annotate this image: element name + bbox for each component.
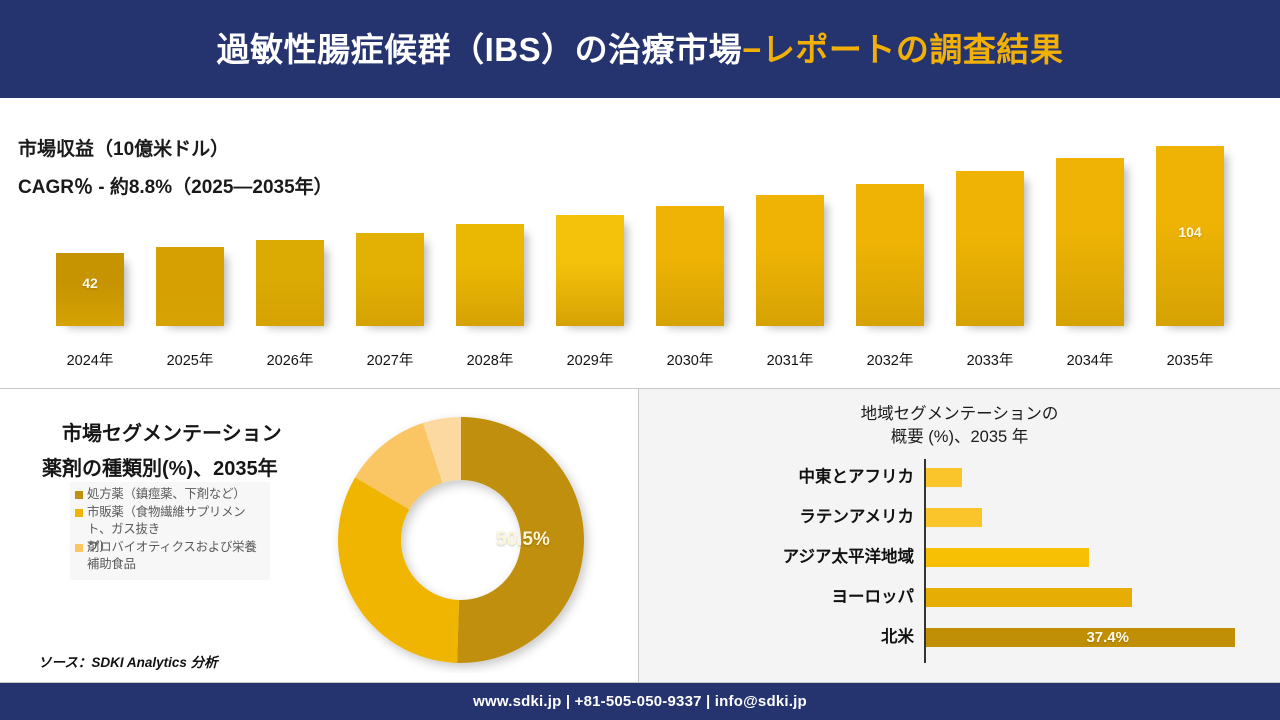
bar-2025年 bbox=[156, 247, 224, 326]
page-title: 過敏性腸症候群（IBS）の治療市場−レポートの調査結果 bbox=[217, 33, 1064, 66]
bar-category-label: 2029年 bbox=[545, 349, 635, 370]
donut-legend: 処方薬（鎮痙薬、下剤など） 市販薬（食物繊維サプリメント、ガス抜き プロバイオテ… bbox=[70, 482, 270, 580]
legend-label: 市販薬（食物繊維サプリメント、ガス抜き bbox=[87, 504, 265, 539]
legend-item: 処方薬（鎮痙薬、下剤など） bbox=[75, 486, 265, 504]
region-bar-4 bbox=[926, 628, 1235, 647]
legend-item: プロバイオティクスおよび栄養補助食品 bbox=[75, 539, 265, 574]
region-label-3: ヨーロッパ bbox=[639, 586, 914, 608]
bar-2033年 bbox=[956, 171, 1024, 326]
legend-swatch-icon bbox=[75, 491, 83, 499]
region-label-0: 中東とアフリカ bbox=[639, 466, 914, 488]
region-title-line1: 地域セグメンテーションの bbox=[861, 405, 1059, 423]
region-bar-3 bbox=[926, 588, 1132, 607]
bar-category-label: 2024年 bbox=[45, 349, 135, 370]
segmentation-title-line1: 市場セグメンテーション bbox=[62, 417, 362, 446]
market-revenue-section: 市場収益（10億米ドル） CAGR％ - 約8.8%（2025―2035年） 4… bbox=[0, 98, 1280, 386]
bar-2027年 bbox=[356, 233, 424, 326]
region-bar-plot-area: 中東とアフリカラテンアメリカアジア太平洋地域ヨーロッパ北米37.4% bbox=[639, 459, 1280, 667]
region-bar-0 bbox=[926, 468, 962, 487]
donut-svg bbox=[330, 411, 600, 673]
bar-2028年 bbox=[456, 224, 524, 326]
page-title-main: 過敏性腸症候群（IBS）の治療市場 bbox=[217, 31, 743, 68]
bar-category-label: 2032年 bbox=[845, 349, 935, 370]
donut-data-label: 50.5% bbox=[496, 529, 550, 551]
bar-category-label: 2026年 bbox=[245, 349, 335, 370]
legend-label: 処方薬（鎮痙薬、下剤など） bbox=[87, 486, 265, 504]
bar-2026年 bbox=[256, 240, 324, 326]
drug-type-donut-chart: 50.5% bbox=[330, 411, 600, 673]
bar-category-label: 2033年 bbox=[945, 349, 1035, 370]
footer-banner: www.sdki.jp | +81-505-050-9337 | info@sd… bbox=[0, 683, 1280, 720]
bar-category-label: 2025年 bbox=[145, 349, 235, 370]
bar-value-label: 104 bbox=[1156, 224, 1224, 240]
region-bar-1 bbox=[926, 508, 982, 527]
bar-2034年 bbox=[1056, 158, 1124, 326]
region-chart-title: 地域セグメンテーションの 概要 (%)、2035 年 bbox=[639, 403, 1280, 449]
region-bar-2 bbox=[926, 548, 1089, 567]
region-row: 北米37.4% bbox=[639, 625, 1280, 665]
region-label-2: アジア太平洋地域 bbox=[639, 546, 914, 568]
page-title-accent: −レポートの調査結果 bbox=[742, 31, 1063, 68]
legend-swatch-icon bbox=[75, 544, 83, 552]
region-row: 中東とアフリカ bbox=[639, 465, 1280, 505]
footer-contact: www.sdki.jp | +81-505-050-9337 | info@sd… bbox=[473, 693, 807, 710]
region-value-label: 37.4% bbox=[1086, 629, 1129, 646]
bar-value-label: 42 bbox=[56, 275, 124, 291]
region-row: ヨーロッパ bbox=[639, 585, 1280, 625]
bar-2029年 bbox=[556, 215, 624, 326]
region-label-4: 北米 bbox=[639, 626, 914, 648]
drug-type-segmentation-panel: 市場セグメンテーション 薬剤の種類別(%)、2035年 処方薬（鎮痙薬、下剤など… bbox=[0, 389, 638, 682]
legend-swatch-icon bbox=[75, 509, 83, 517]
bar-category-label: 2035年 bbox=[1145, 349, 1235, 370]
region-row: アジア太平洋地域 bbox=[639, 545, 1280, 585]
legend-label: プロバイオティクスおよび栄養補助食品 bbox=[87, 539, 265, 574]
region-label-1: ラテンアメリカ bbox=[639, 506, 914, 528]
source-note: ソース：SDKI Analytics 分析 bbox=[38, 651, 218, 671]
bar-plot-area: 422024年2025年2026年2027年2028年2029年2030年203… bbox=[40, 126, 1240, 326]
infographic-page: 過敏性腸症候群（IBS）の治療市場−レポートの調査結果 市場収益（10億米ドル）… bbox=[0, 0, 1280, 720]
bar-2030年 bbox=[656, 206, 724, 326]
header-banner: 過敏性腸症候群（IBS）の治療市場−レポートの調査結果 bbox=[0, 0, 1280, 98]
region-row: ラテンアメリカ bbox=[639, 505, 1280, 545]
market-revenue-bar-chart: 422024年2025年2026年2027年2028年2029年2030年203… bbox=[40, 118, 1240, 378]
bar-category-label: 2027年 bbox=[345, 349, 435, 370]
bar-category-label: 2030年 bbox=[645, 349, 735, 370]
bar-category-label: 2031年 bbox=[745, 349, 835, 370]
donut-slice-1 bbox=[338, 477, 459, 663]
bar-category-label: 2028年 bbox=[445, 349, 535, 370]
bar-2032年 bbox=[856, 184, 924, 326]
legend-item: 市販薬（食物繊維サプリメント、ガス抜き bbox=[75, 504, 265, 539]
region-segmentation-panel: 地域セグメンテーションの 概要 (%)、2035 年 中東とアフリカラテンアメリ… bbox=[639, 389, 1280, 682]
region-title-line2: 概要 (%)、2035 年 bbox=[891, 428, 1029, 446]
bar-2031年 bbox=[756, 195, 824, 326]
bar-category-label: 2034年 bbox=[1045, 349, 1135, 370]
segmentation-title-line2: 薬剤の種類別(%)、2035年 bbox=[42, 452, 362, 481]
